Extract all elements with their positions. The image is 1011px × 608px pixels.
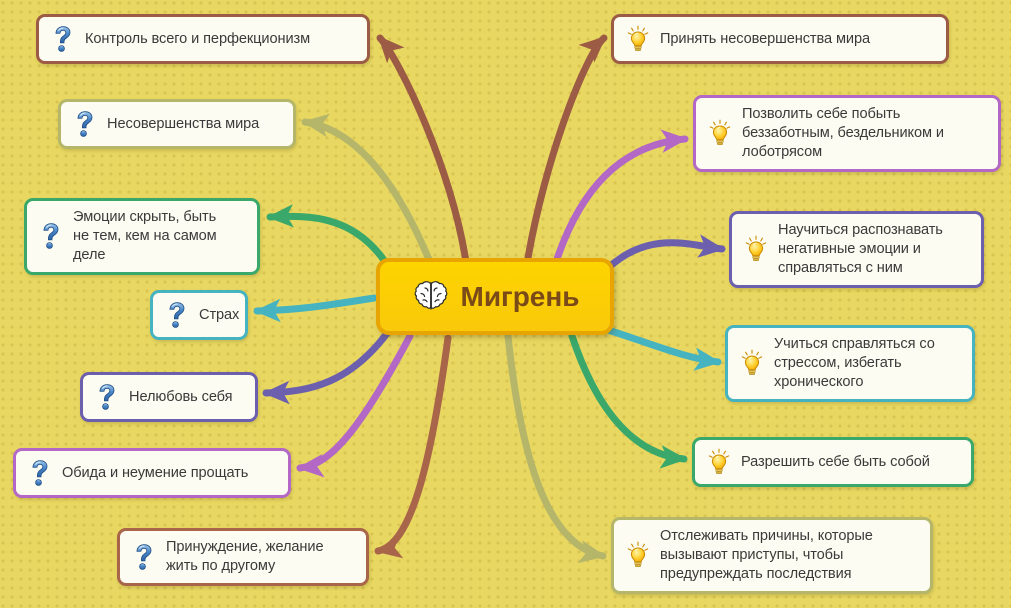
edge-to-coercion	[378, 338, 448, 551]
mindmap-canvas: Мигрень Контроль всего и перфекционизмНе…	[0, 0, 1011, 608]
question-mark-icon	[94, 382, 120, 412]
node-label: Контроль всего и перфекционизм	[85, 30, 310, 49]
edge-to-resentment	[300, 336, 410, 468]
lightbulb-icon	[739, 348, 765, 378]
node-label: Эмоции скрыть, быть не тем, кем на самом…	[73, 208, 217, 265]
node-cause-control[interactable]: Контроль всего и перфекционизм	[36, 14, 370, 64]
node-sol-track-causes[interactable]: Отслеживать причины, которые вызывают пр…	[611, 517, 933, 594]
lightbulb-icon	[743, 234, 769, 264]
node-label: Принуждение, желание жить по другому	[166, 538, 323, 576]
node-label: Принять несовершенства мира	[660, 30, 870, 49]
node-cause-imperfection[interactable]: Несовершенства мира	[58, 99, 296, 149]
central-node[interactable]: Мигрень	[376, 258, 614, 335]
node-cause-resentment[interactable]: Обида и неумение прощать	[13, 448, 291, 498]
node-sol-manage-stress[interactable]: Учиться справляться со стрессом, избегат…	[725, 325, 975, 402]
node-sol-recognize-emotions[interactable]: Научиться распознавать негативные эмоции…	[729, 211, 984, 288]
node-label: Научиться распознавать негативные эмоции…	[778, 221, 943, 278]
edge-to-track	[508, 336, 603, 556]
node-cause-hide-emotions[interactable]: Эмоции скрыть, быть не тем, кем на самом…	[24, 198, 260, 275]
node-cause-coercion[interactable]: Принуждение, желание жить по другому	[117, 528, 369, 586]
question-mark-icon	[164, 300, 190, 330]
edge-to-fear	[257, 298, 374, 311]
lightbulb-icon	[625, 24, 651, 54]
node-label: Нелюбовь себя	[129, 388, 232, 407]
node-cause-fear[interactable]: Страх	[150, 290, 248, 340]
node-label: Учиться справляться со стрессом, избегат…	[774, 335, 935, 392]
edge-to-hide-emotions	[270, 216, 388, 266]
lightbulb-icon	[707, 118, 733, 148]
edge-to-control	[380, 38, 466, 262]
node-sol-be-yourself[interactable]: Разрешить себе быть собой	[692, 437, 974, 487]
question-mark-icon	[27, 458, 53, 488]
brain-icon	[411, 277, 451, 317]
question-mark-icon	[38, 221, 64, 251]
node-sol-accept-imperfection[interactable]: Принять несовершенства мира	[611, 14, 949, 64]
edge-to-recognize	[608, 243, 722, 268]
edge-to-idle	[556, 139, 685, 262]
node-label: Отслеживать причины, которые вызывают пр…	[660, 527, 873, 584]
question-mark-icon	[72, 109, 98, 139]
node-label: Страх	[199, 306, 239, 325]
lightbulb-icon	[706, 447, 732, 477]
node-cause-self-dislike[interactable]: Нелюбовь себя	[80, 372, 258, 422]
question-mark-icon	[131, 542, 157, 572]
edge-to-stress	[608, 330, 718, 362]
node-sol-allow-idle[interactable]: Позволить себе побыть беззаботным, безде…	[693, 95, 1001, 172]
question-mark-icon	[50, 24, 76, 54]
edge-to-accept	[528, 38, 604, 258]
node-label: Несовершенства мира	[107, 115, 259, 134]
edge-to-self-dislike	[266, 332, 388, 393]
node-label: Позволить себе побыть беззаботным, безде…	[742, 105, 944, 162]
edge-to-yourself	[572, 336, 684, 459]
node-label: Обида и неумение прощать	[62, 464, 248, 483]
node-label: Разрешить себе быть собой	[741, 453, 930, 472]
lightbulb-icon	[625, 540, 651, 570]
edge-to-imperfection	[305, 122, 430, 262]
central-node-label: Мигрень	[461, 281, 580, 313]
